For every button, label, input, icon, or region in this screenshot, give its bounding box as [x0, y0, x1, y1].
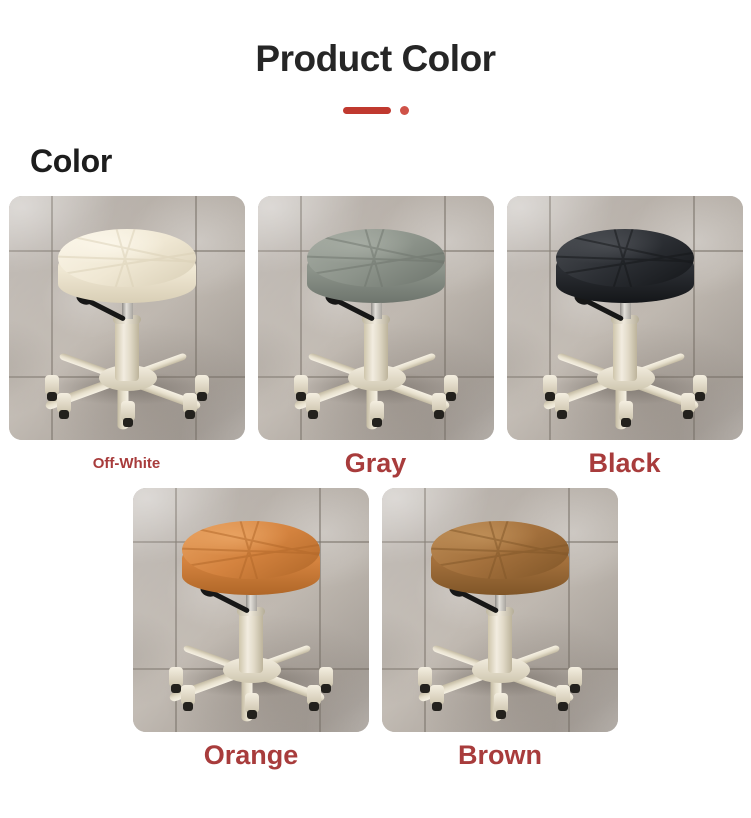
stool-caster [444, 375, 458, 395]
seat-quilting-pattern [431, 521, 569, 579]
seat-quilting-pattern [58, 229, 196, 287]
color-label: Orange [133, 741, 369, 771]
stool-caster [432, 393, 446, 413]
color-label: Brown [382, 741, 618, 771]
stool-seat [431, 521, 569, 603]
stool-caster [245, 693, 259, 713]
seat-top [182, 521, 320, 579]
stool-seat [307, 229, 445, 311]
color-label: Black [507, 449, 743, 479]
color-label: Gray [258, 449, 494, 479]
stool-seat [556, 229, 694, 311]
stool-caster [418, 667, 432, 687]
seat-top [58, 229, 196, 287]
gas-cylinder [488, 609, 512, 673]
color-option-black[interactable]: Black [507, 196, 743, 479]
page-title: Product Color [0, 0, 751, 79]
decoration-dot [400, 106, 409, 115]
gas-cylinder [239, 609, 263, 673]
stool-caster [568, 667, 582, 687]
stool-caster [181, 685, 195, 705]
seat-top [431, 521, 569, 579]
color-option-off-white[interactable]: Off-White [9, 196, 245, 479]
stool-caster [45, 375, 59, 395]
stool-caster [306, 393, 320, 413]
seat-top [556, 229, 694, 287]
stool-caster [183, 393, 197, 413]
color-option-brown[interactable]: Brown [382, 488, 618, 771]
stool-caster [370, 401, 384, 421]
stool-illustration [537, 225, 713, 411]
stool-caster [693, 375, 707, 395]
stool-caster [121, 401, 135, 421]
stool-caster [555, 393, 569, 413]
title-decoration [0, 105, 751, 117]
stool-seat [182, 521, 320, 603]
gas-cylinder [115, 317, 139, 381]
color-option-gray[interactable]: Gray [258, 196, 494, 479]
stool-illustration [288, 225, 464, 411]
color-row-bottom: OrangeBrown [0, 488, 751, 771]
seat-quilting-pattern [556, 229, 694, 287]
color-label: Off-White [9, 456, 245, 473]
color-option-orange[interactable]: Orange [133, 488, 369, 771]
stool-caster [57, 393, 71, 413]
stool-caster [195, 375, 209, 395]
section-title: Color [30, 143, 751, 180]
product-color-page: Product Color Color Off-WhiteGrayBlack O… [0, 0, 751, 770]
stool-caster [543, 375, 557, 395]
stool-caster [494, 693, 508, 713]
stool-caster [556, 685, 570, 705]
stool-caster [319, 667, 333, 687]
product-photo[interactable] [133, 488, 369, 732]
color-row-top: Off-WhiteGrayBlack [0, 196, 751, 479]
product-photo[interactable] [507, 196, 743, 440]
stool-caster [681, 393, 695, 413]
product-photo[interactable] [9, 196, 245, 440]
stool-caster [169, 667, 183, 687]
seat-top [307, 229, 445, 287]
seat-quilting-pattern [182, 521, 320, 579]
stool-seat [58, 229, 196, 311]
stool-illustration [412, 517, 588, 703]
seat-quilting-pattern [307, 229, 445, 287]
decoration-dash [343, 107, 391, 114]
gas-cylinder [364, 317, 388, 381]
stool-caster [294, 375, 308, 395]
product-photo[interactable] [382, 488, 618, 732]
stool-caster [307, 685, 321, 705]
stool-caster [430, 685, 444, 705]
stool-illustration [163, 517, 339, 703]
product-photo[interactable] [258, 196, 494, 440]
stool-illustration [39, 225, 215, 411]
gas-cylinder [613, 317, 637, 381]
stool-caster [619, 401, 633, 421]
